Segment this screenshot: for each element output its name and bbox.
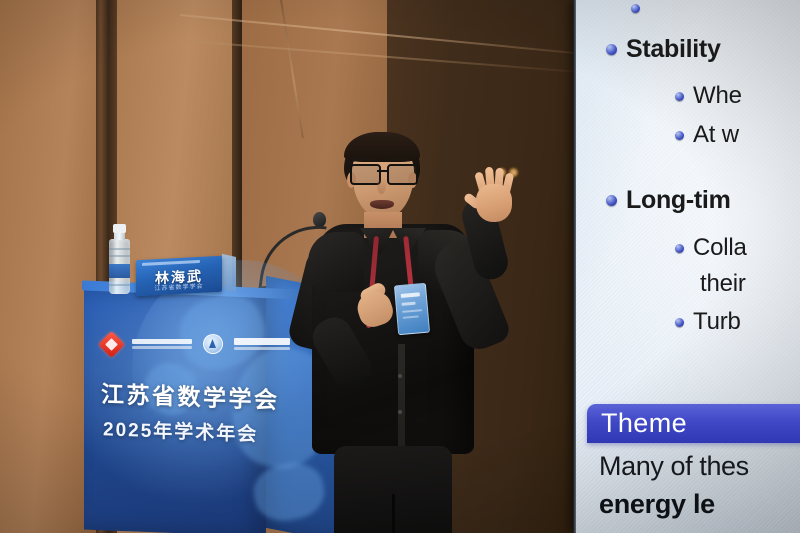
- badge-line: [401, 292, 420, 298]
- speaker-left-shoulder: [308, 232, 364, 292]
- slide-bullet-text: their: [700, 270, 746, 298]
- shirt-button: [398, 374, 402, 378]
- hand-palm: [476, 184, 512, 222]
- slide-bullet-text: Turb: [693, 308, 741, 336]
- slide-bullet-partial: [631, 0, 655, 22]
- desk-nameplate: 林海武 江苏省数学学会: [136, 256, 222, 297]
- presentation-slide: Stability Whe At w Long-tim Colla their: [573, 0, 800, 533]
- bottle-label: [109, 264, 130, 278]
- podium-subtitle: 2025年学术年会: [103, 414, 258, 446]
- bottle-cap: [113, 224, 126, 233]
- slide-bullet-level1: Stability: [606, 35, 721, 64]
- nameplate-face: 林海武 江苏省数学学会: [136, 256, 222, 297]
- slide-bullet-level2: Colla: [675, 234, 747, 262]
- nameplate-side: [222, 254, 236, 293]
- name-badge: [394, 283, 430, 336]
- speaker-mouth: [370, 200, 394, 209]
- slide-bullet-text: Whe: [693, 82, 742, 110]
- theme-body: Many of thes energy le: [587, 443, 800, 520]
- projection-screen: Stability Whe At w Long-tim Colla their: [573, 0, 800, 533]
- badge-line: [402, 309, 422, 313]
- slide-bullet-text: Long-tim: [626, 186, 731, 215]
- theme-callout-box: Theme Many of thes energy le: [587, 404, 800, 520]
- slide-bullet-text: Colla: [693, 234, 747, 262]
- speaker-raised-hand: [470, 170, 518, 222]
- slide-bullet-text: At w: [693, 121, 739, 149]
- bottle-rib: [109, 284, 130, 286]
- slide-bullet-level1: Long-tim: [606, 186, 731, 215]
- blue-sphere-bullet-icon: [606, 44, 617, 55]
- blue-sphere-bullet-icon: [606, 195, 617, 206]
- podium-logo-row: [102, 334, 290, 354]
- university-logo-icon: [203, 334, 223, 354]
- speaker-nose: [377, 178, 386, 194]
- blue-sphere-bullet-icon: [675, 131, 684, 140]
- society-logo-wordmark: [132, 339, 192, 349]
- theme-line-2: energy le: [599, 489, 800, 520]
- nameplate-header-strip: [142, 260, 200, 266]
- slide-bullet-text: Stability: [626, 35, 721, 64]
- badge-line: [403, 315, 419, 318]
- podium-title: 江苏省数学学会: [101, 375, 280, 415]
- screen-left-edge: [573, 0, 576, 533]
- trouser-seam: [392, 494, 395, 533]
- bottle-neck: [114, 233, 125, 240]
- theme-header-bar: Theme: [587, 404, 800, 443]
- badge-line: [401, 302, 415, 306]
- water-bottle: [107, 224, 132, 294]
- glasses-bridge: [377, 170, 387, 172]
- slide-bullet-level2: Turb: [675, 308, 741, 336]
- wall-panel-left: [0, 0, 96, 533]
- conference-photo: Stability Whe At w Long-tim Colla their: [0, 0, 800, 533]
- blue-sphere-bullet-icon: [631, 4, 640, 13]
- shirt-button: [398, 410, 402, 414]
- bottle-rib: [109, 255, 130, 257]
- glasses-lens: [387, 164, 418, 185]
- jiangsu-math-society-logo-icon: [98, 331, 125, 358]
- theme-header-label: Theme: [601, 408, 687, 439]
- blue-sphere-bullet-icon: [675, 92, 684, 101]
- slide-bullet-level2: At w: [675, 121, 739, 149]
- blue-sphere-bullet-icon: [675, 318, 684, 327]
- slide-bullet-continuation: their: [700, 270, 746, 298]
- theme-line-1: Many of thes: [599, 451, 800, 482]
- speaker-person: [300, 120, 550, 533]
- bottle-rib: [109, 248, 130, 250]
- blue-sphere-bullet-icon: [675, 244, 684, 253]
- slide-bullet-level2: Whe: [675, 82, 742, 110]
- university-logo-wordmark: [234, 338, 290, 350]
